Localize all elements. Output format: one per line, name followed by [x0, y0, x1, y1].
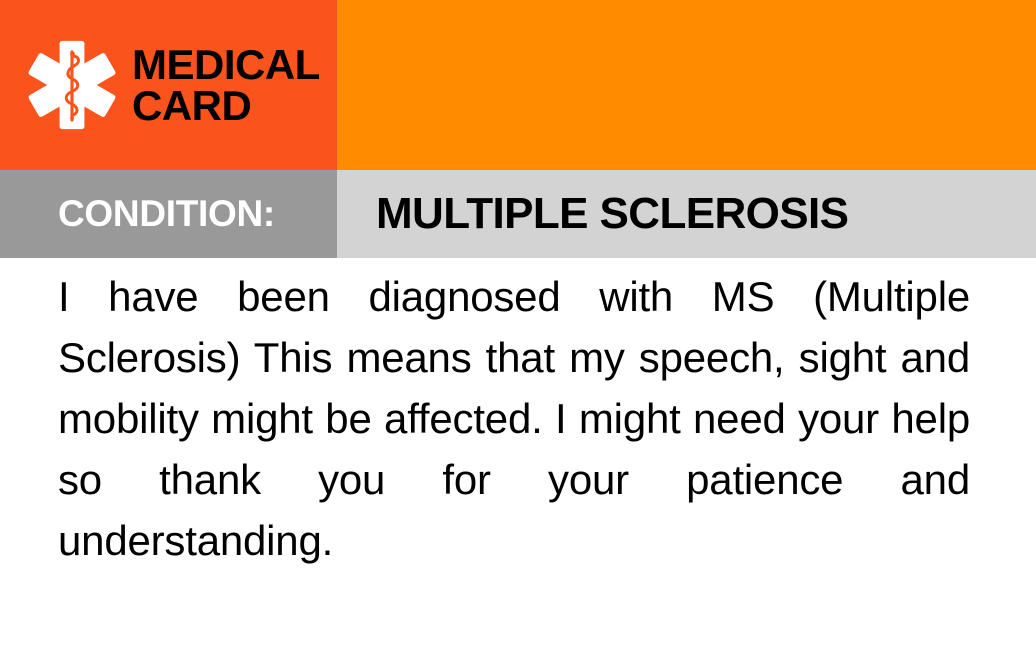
brand-title: MEDICAL CARD: [132, 44, 320, 126]
condition-label-panel: CONDITION:: [0, 170, 337, 258]
condition-value: MULTIPLE SCLEROSIS: [376, 189, 848, 239]
condition-bar: CONDITION: MULTIPLE SCLEROSIS: [0, 170, 1036, 258]
brand-line-2: CARD: [132, 85, 320, 126]
header-brand-panel: MEDICAL CARD: [0, 0, 337, 170]
card-header: MEDICAL CARD: [0, 0, 1036, 170]
condition-value-panel: MULTIPLE SCLEROSIS: [337, 170, 1036, 258]
brand-line-1: MEDICAL: [132, 44, 320, 85]
medical-card: MEDICAL CARD CONDITION: MULTIPLE SCLEROS…: [0, 0, 1036, 660]
condition-label: CONDITION:: [58, 193, 275, 235]
star-of-life-icon: [26, 39, 118, 131]
header-accent-panel: [337, 0, 1036, 170]
condition-description: I have been diagnosed with MS (Multiple …: [58, 266, 970, 571]
card-body: I have been diagnosed with MS (Multiple …: [0, 258, 1036, 660]
